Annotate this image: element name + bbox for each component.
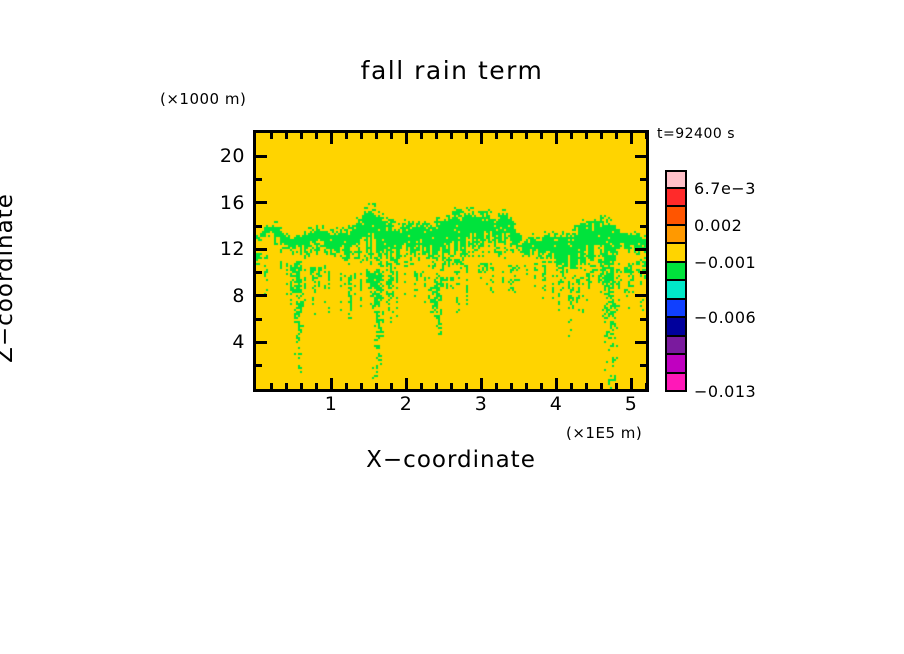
x-tick-3.6 [525,133,528,139]
x-tick-2.0 [405,133,408,144]
y-tick-right-16 [635,201,646,204]
colorbar-band-6 [665,281,687,300]
x-tick-1.6 [375,133,378,139]
x-tick-bottom-4.6 [600,383,603,389]
colorbar-band-5 [665,263,687,282]
colorbar-band-8 [665,318,687,337]
x-tick-0.8 [315,133,318,139]
x-tick-4.4 [585,133,588,139]
y-tick-12 [256,248,267,251]
x-tick-bottom-4.4 [585,383,588,389]
x-tick-bottom-1.8 [390,383,393,389]
colorbar-band-9 [665,337,687,356]
x-tick-3.8 [540,133,543,139]
x-tick-bottom-4.2 [570,383,573,389]
x-tick-0.4 [285,133,288,139]
x-tick-2.2 [420,133,423,139]
x-tick-bottom-0.8 [315,383,318,389]
y-tick-8 [256,294,267,297]
plot-area [253,130,649,392]
y-tick-right-10 [640,271,646,274]
colorbar-band-10 [665,355,687,374]
colorbar-label-4: −0.013 [694,382,756,401]
x-tick-label-4: 4 [536,393,576,415]
y-tick-4 [256,341,267,344]
colorbar-label-3: −0.006 [694,308,756,327]
y-tick-6 [256,318,262,321]
x-tick-bottom-1.6 [375,383,378,389]
x-tick-1.2 [345,133,348,139]
x-tick-bottom-1.2 [345,383,348,389]
y-tick-16 [256,201,267,204]
x-tick-bottom-0.4 [285,383,288,389]
y-tick-right-14 [640,225,646,228]
x-tick-bottom-3.8 [540,383,543,389]
x-tick-5.2 [645,133,648,139]
y-tick-right-8 [635,294,646,297]
x-tick-bottom-1.0 [330,378,333,389]
y-tick-label-16: 16 [220,192,245,214]
x-tick-bottom-5.2 [645,383,648,389]
x-tick-label-2: 2 [386,393,426,415]
x-tick-bottom-2.0 [405,378,408,389]
y-tick-right-2 [640,364,646,367]
x-tick-bottom-2.8 [465,383,468,389]
y-tick-right-18 [640,178,646,181]
x-tick-0.2 [270,133,273,139]
x-tick-bottom-3.4 [510,383,513,389]
x-tick-label-3: 3 [461,393,501,415]
x-tick-2.6 [450,133,453,139]
y-tick-label-12: 12 [220,238,245,260]
x-tick-bottom-1.4 [360,383,363,389]
x-tick-bottom-3.2 [495,383,498,389]
x-tick-bottom-4.0 [555,378,558,389]
y-tick-right-6 [640,318,646,321]
x-tick-2.4 [435,133,438,139]
colorbar-band-7 [665,300,687,319]
page-title: fall rain term [0,56,904,85]
y-tick-right-4 [635,341,646,344]
colorbar-label-1: 0.002 [694,216,742,235]
colorbar-band-0 [665,170,687,189]
x-tick-bottom-0.2 [270,383,273,389]
x-tick-bottom-0.6 [300,383,303,389]
colorbar-label-2: −0.001 [694,253,756,272]
colorbar-band-3 [665,226,687,245]
y-tick-2 [256,364,262,367]
x-tick-2.8 [465,133,468,139]
x-axis-title: X−coordinate [253,447,649,473]
x-tick-bottom-2.6 [450,383,453,389]
x-tick-label-1: 1 [311,393,351,415]
y-tick-right-12 [635,248,646,251]
x-tick-3.0 [480,133,483,144]
colorbar [665,170,687,392]
x-tick-4.8 [615,133,618,139]
colorbar-band-1 [665,189,687,208]
x-tick-1.0 [330,133,333,144]
y-tick-14 [256,225,262,228]
x-tick-3.2 [495,133,498,139]
x-tick-4.0 [555,133,558,144]
x-axis-unit-label: (×1E5 m) [566,424,642,442]
x-tick-5.0 [630,133,633,144]
x-tick-3.4 [510,133,513,139]
y-tick-label-8: 8 [232,285,245,307]
x-tick-0.6 [300,133,303,139]
y-axis-unit-label: (×1000 m) [160,90,246,108]
x-tick-4.2 [570,133,573,139]
y-tick-18 [256,178,262,181]
y-axis-title: Z−coordinate [0,148,18,408]
x-tick-1.4 [360,133,363,139]
x-tick-bottom-3.0 [480,378,483,389]
x-tick-bottom-2.4 [435,383,438,389]
colorbar-label-0: 6.7e−3 [694,179,756,198]
y-tick-20 [256,155,267,158]
x-tick-bottom-2.2 [420,383,423,389]
y-tick-label-20: 20 [220,145,245,167]
y-tick-right-20 [635,155,646,158]
y-tick-label-4: 4 [232,331,245,353]
colorbar-band-4 [665,244,687,263]
y-tick-10 [256,271,262,274]
time-annotation: t=92400 s [657,126,735,142]
x-tick-bottom-4.8 [615,383,618,389]
x-tick-label-5: 5 [611,393,651,415]
colorbar-band-11 [665,374,687,393]
x-tick-4.6 [600,133,603,139]
x-tick-1.8 [390,133,393,139]
contour-field-canvas [256,133,646,389]
x-tick-bottom-3.6 [525,383,528,389]
x-tick-bottom-5.0 [630,378,633,389]
colorbar-band-2 [665,207,687,226]
